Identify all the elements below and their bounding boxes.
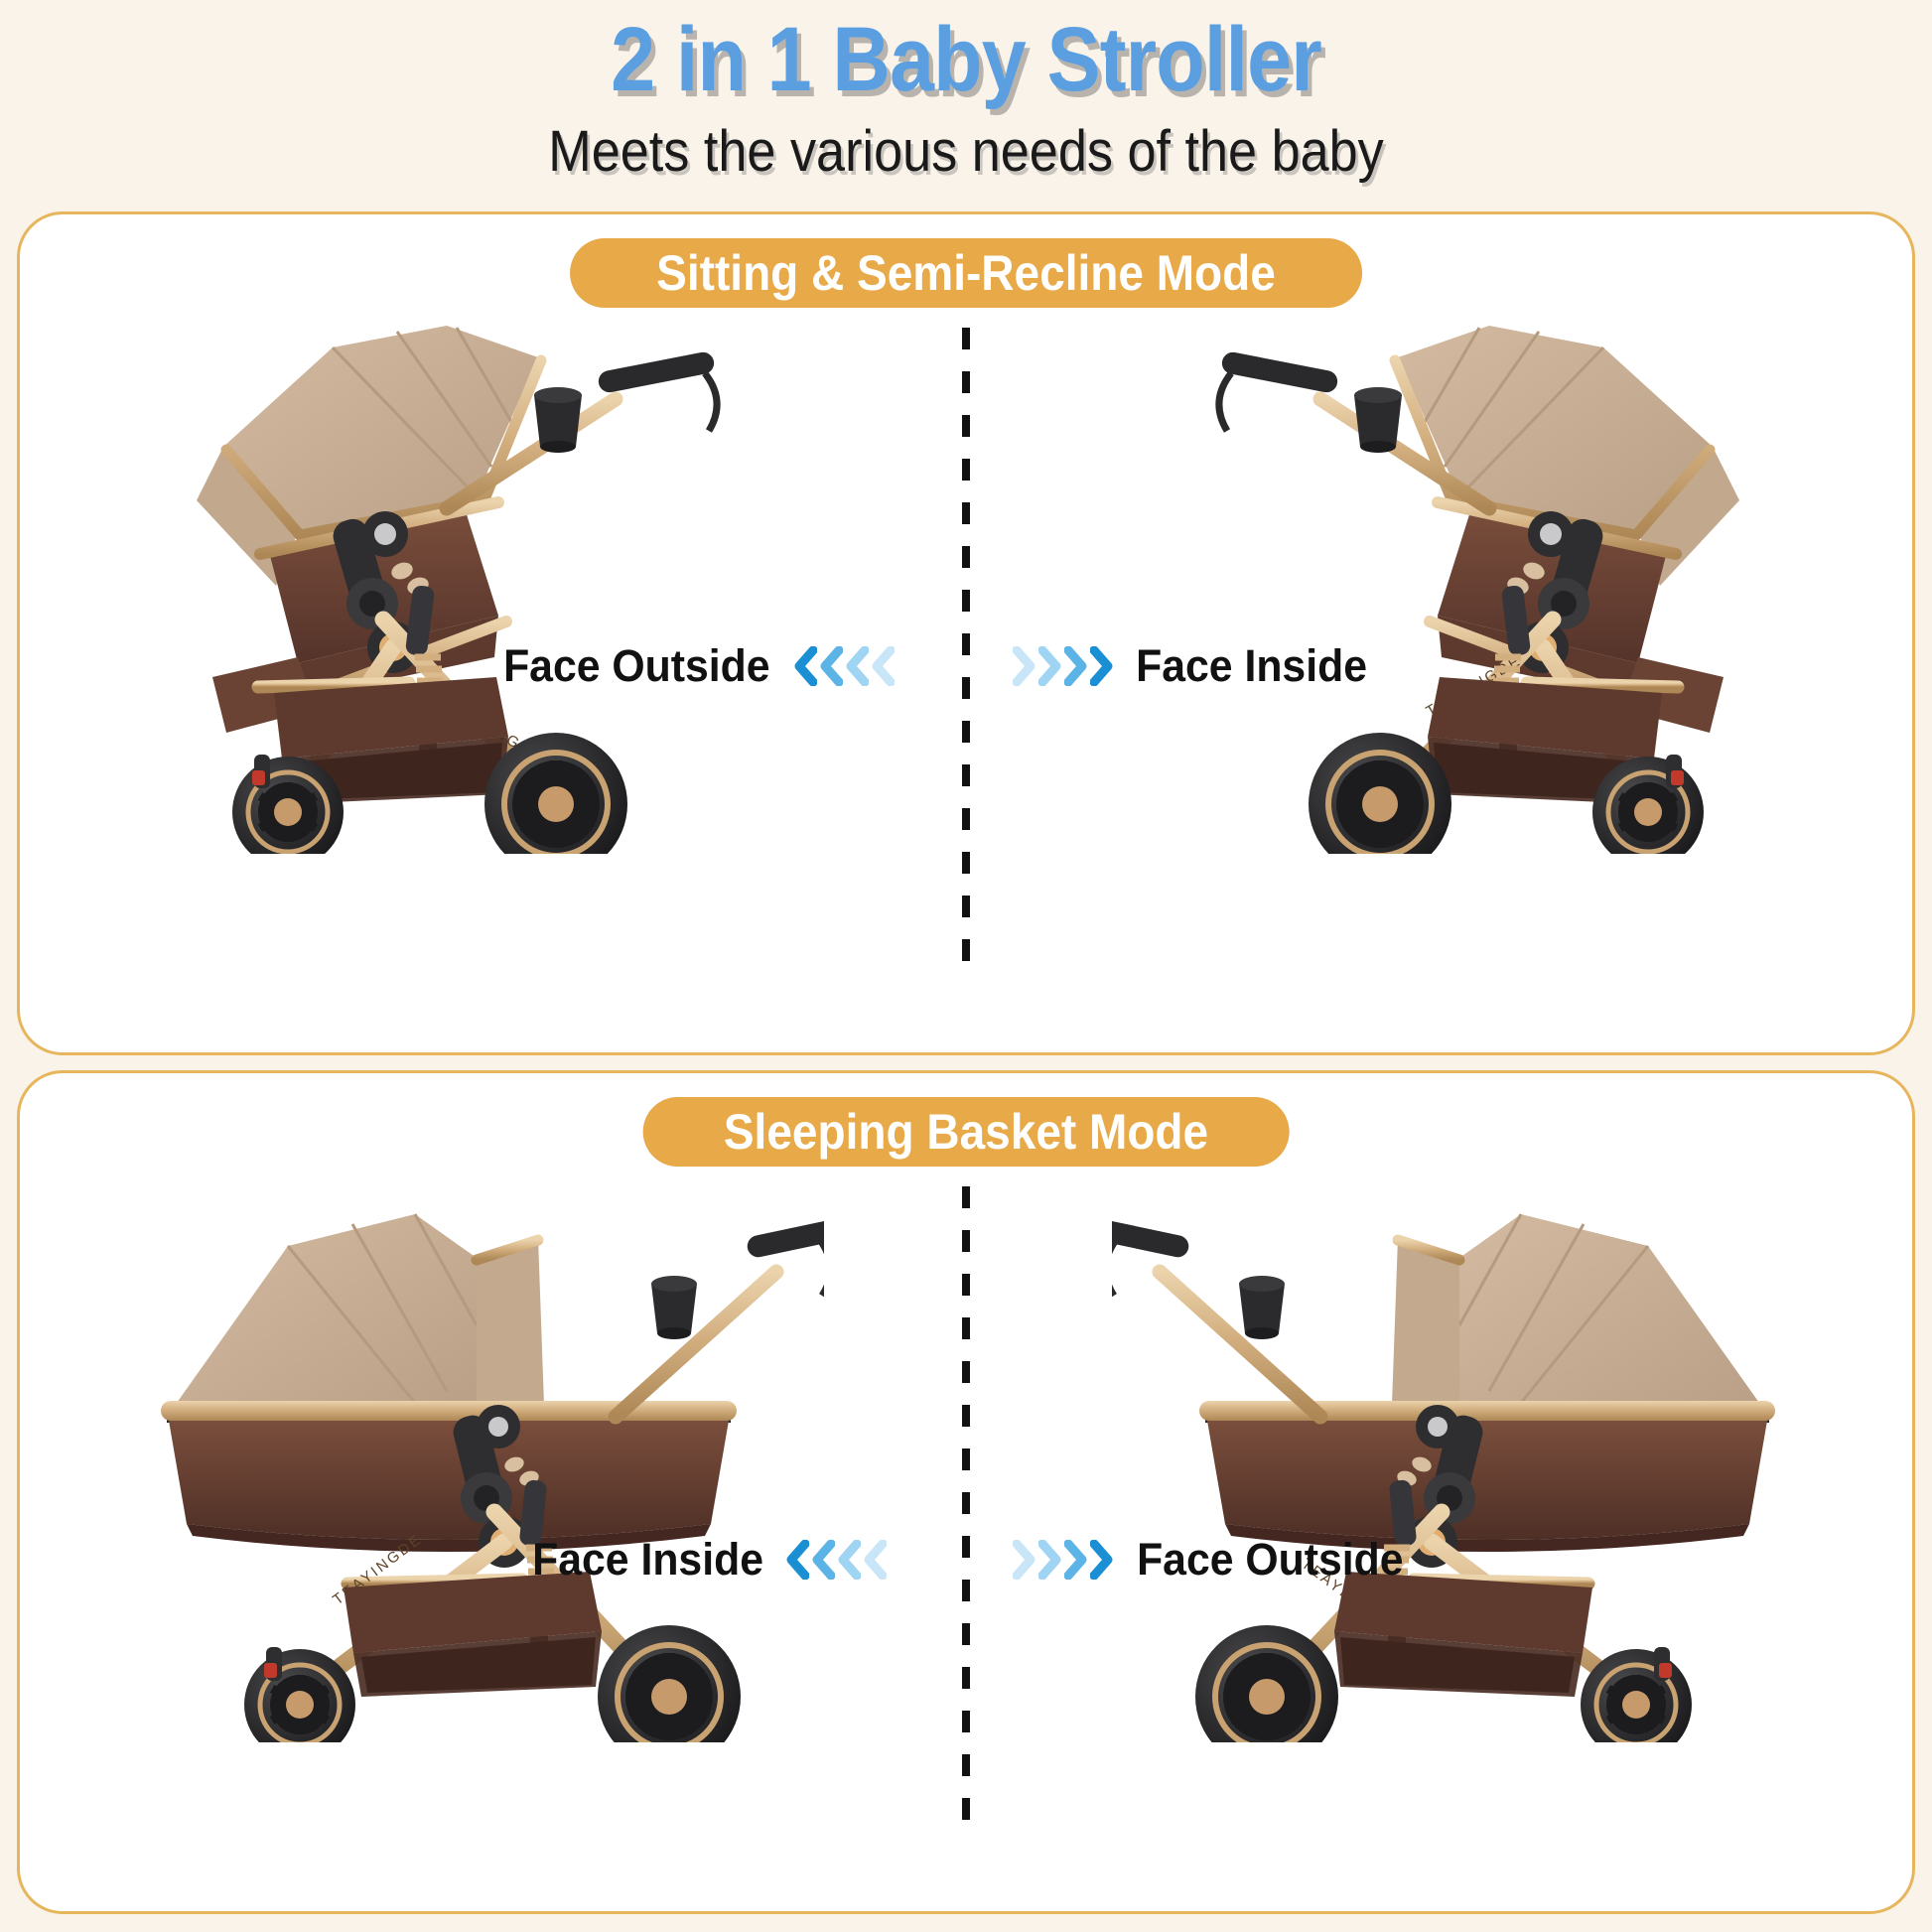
infographic-page: 2 in 1 Baby Stroller Meets the various n… (0, 0, 1932, 1932)
canopy-hood (177, 1214, 544, 1405)
section-banner-sleeping: Sleeping Basket Mode (643, 1097, 1290, 1167)
page-subtitle: Meets the various needs of the baby (96, 123, 1835, 181)
chevrons-right-icon (1013, 1540, 1116, 1580)
storage-basket (1334, 1572, 1592, 1697)
chevrons-right-icon (1013, 646, 1116, 686)
face-label-sitting-left: Face Outside (496, 640, 895, 692)
handlebar (1112, 1219, 1320, 1417)
stroller-illustration-sleeping-right: TEAYINGDE (1112, 1167, 1787, 1742)
cup-holder (1354, 387, 1402, 453)
handlebar (616, 1219, 824, 1417)
cup-holder (651, 1276, 697, 1339)
stroller-illustration-sitting-left: TEAYINGDE (149, 288, 804, 854)
canopy-hood (1392, 1214, 1759, 1405)
bassinet-body (161, 1401, 737, 1552)
storage-basket (344, 1572, 602, 1697)
section-divider-sleeping (962, 1186, 970, 1842)
bassinet-body (1199, 1401, 1775, 1552)
page-title: 2 in 1 Baby Stroller (116, 14, 1816, 105)
chevrons-left-icon (783, 1540, 887, 1580)
section-banner-label: Sleeping Basket Mode (724, 1103, 1208, 1161)
stroller-illustration-sitting-right: TEAYINGDE (1132, 288, 1787, 854)
face-label-text: Face Outside (1137, 1534, 1403, 1586)
chevrons-left-icon (791, 646, 895, 686)
face-label-sleeping-right: Face Outside (1013, 1534, 1411, 1586)
cup-holder (1239, 1276, 1285, 1339)
face-label-sleeping-left: Face Inside (526, 1534, 887, 1586)
face-label-sitting-right: Face Inside (1013, 640, 1373, 692)
cup-holder (534, 387, 582, 453)
section-divider-sitting (962, 328, 970, 983)
header: 2 in 1 Baby Stroller Meets the various n… (0, 0, 1932, 181)
stroller-illustration-sleeping-left: TEAYINGDE (149, 1167, 824, 1742)
face-label-text: Face Inside (1136, 640, 1367, 692)
face-label-text: Face Inside (532, 1534, 763, 1586)
face-label-text: Face Outside (503, 640, 769, 692)
